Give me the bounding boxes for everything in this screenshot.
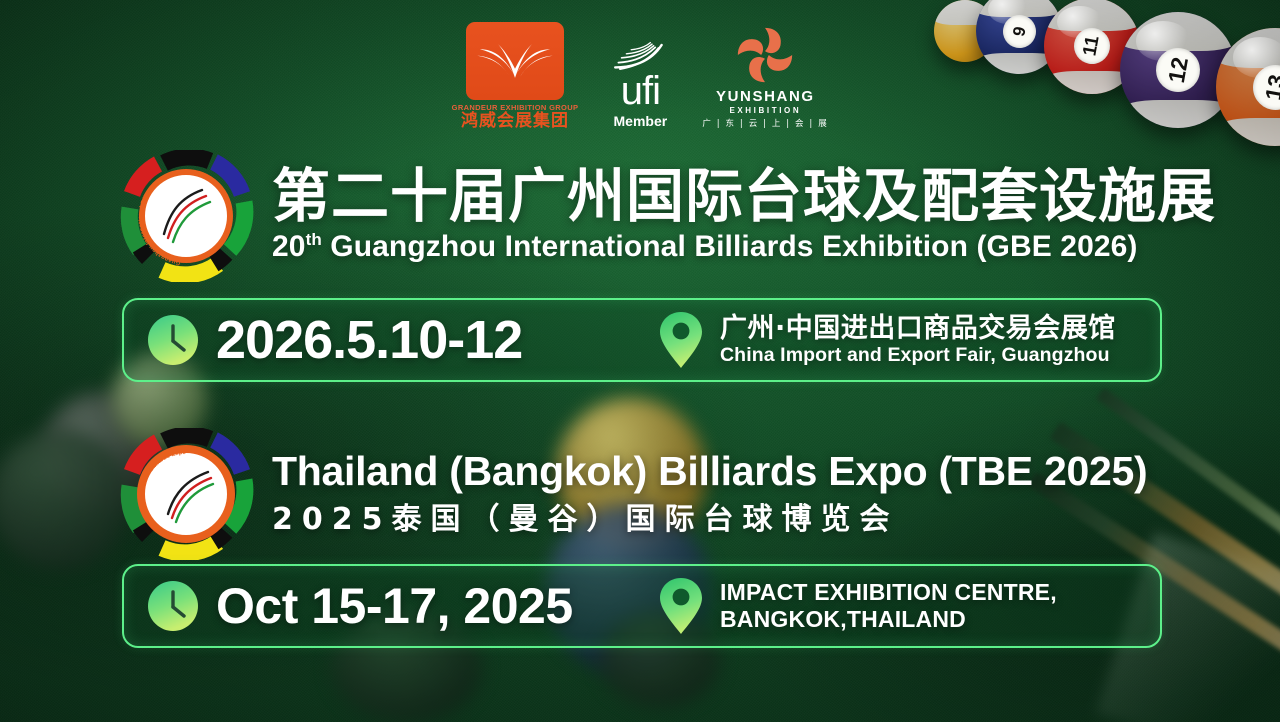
gbe-title-english-rest: Guangzhou International Billiards Exhibi… [322, 230, 1138, 263]
billiards-exhibition-emblem: Guangzhou International Billiards Exhibi… [118, 150, 254, 282]
ufi-wordmark: ufi [621, 74, 660, 108]
location-pin-icon [658, 576, 704, 636]
pinwheel-icon [734, 24, 796, 86]
gbe-venue-text: 广州·中国进出口商品交易会展馆 China Import and Export … [720, 314, 1116, 366]
wings-w-icon [476, 38, 554, 84]
tbe-title-chinese: 2025泰国（曼谷）国际台球博览会 [272, 501, 1147, 539]
billiards-expo-emblem: Thailand Bangkok International Billiards… [118, 428, 254, 560]
gbe-ordinal-number: 20 [272, 230, 306, 263]
gbe-venue-chinese: 广州·中国进出口商品交易会展馆 [720, 314, 1116, 344]
grandeur-plate [466, 22, 564, 100]
logo-yunshang-exhibition: YUNSHANG EXHIBITION 广 | 东 | 云 | 上 | 会 | … [702, 24, 828, 131]
gbe-venue-cell: 广州·中国进出口商品交易会展馆 China Import and Export … [658, 310, 1116, 370]
gbe-date: 2026.5.10-12 [216, 309, 522, 371]
gbe-title-english: 20th Guangzhou International Billiards E… [272, 230, 1216, 265]
tbe-titles: Thailand (Bangkok) Billiards Expo (TBE 2… [272, 449, 1147, 539]
infobar-tbe-2025: Oct 15-17, 2025 IMPACT EXHIBITION CENTRE… [122, 564, 1162, 648]
gbe-title-chinese: 第二十届广州国际台球及配套设施展 [272, 167, 1216, 226]
yunshang-sub-label: EXHIBITION [729, 106, 801, 115]
yunshang-chinese-name: 广 | 东 | 云 | 上 | 会 | 展 [702, 117, 828, 129]
sponsor-logo-row: GRANDEUR EXHIBITION GROUP 鸿威会展集团 ufi Mem… [0, 22, 1280, 131]
tbe-venue-line2: BANGKOK,THAILAND [720, 606, 1057, 633]
infobar-gbe-2026: 2026.5.10-12 广州·中国进出口商品交易会展馆 China Impor… [122, 298, 1162, 382]
ufi-member-label: Member [614, 113, 668, 129]
promo-banner: 9 11 12 13 [0, 0, 1280, 722]
gbe-titles: 第二十届广州国际台球及配套设施展 20th Guangzhou Internat… [272, 167, 1216, 265]
location-pin-icon [658, 310, 704, 370]
logo-grandeur-exhibition-group: GRANDEUR EXHIBITION GROUP 鸿威会展集团 [452, 22, 579, 131]
event-tbe-2025: Thailand Bangkok International Billiards… [118, 428, 1147, 560]
clock-icon [146, 313, 200, 367]
tbe-venue-text: IMPACT EXHIBITION CENTRE, BANGKOK,THAILA… [720, 579, 1057, 633]
blurred-ball [0, 430, 130, 570]
tbe-date-cell: Oct 15-17, 2025 [146, 577, 658, 635]
logo-ufi-member: ufi Member [612, 40, 668, 130]
grandeur-chinese-name: 鸿威会展集团 [461, 113, 569, 131]
clock-icon [146, 579, 200, 633]
gbe-ordinal-suffix: th [306, 230, 322, 249]
gbe-venue-english: China Import and Export Fair, Guangzhou [720, 344, 1116, 366]
tbe-venue-line1: IMPACT EXHIBITION CENTRE, [720, 579, 1057, 606]
gbe-date-cell: 2026.5.10-12 [146, 309, 658, 371]
tbe-title-english: Thailand (Bangkok) Billiards Expo (TBE 2… [272, 449, 1147, 493]
yunshang-english-name: YUNSHANG [716, 88, 815, 105]
tbe-venue-cell: IMPACT EXHIBITION CENTRE, BANGKOK,THAILA… [658, 576, 1057, 636]
event-gbe-2026: Guangzhou International Billiards Exhibi… [118, 150, 1216, 282]
tbe-date: Oct 15-17, 2025 [216, 577, 573, 635]
